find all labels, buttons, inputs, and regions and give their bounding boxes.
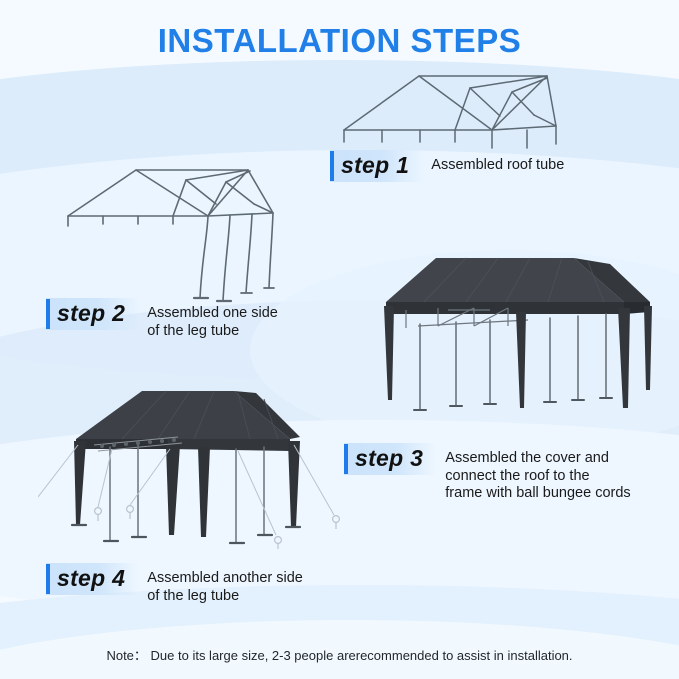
step-1-description: Assembled roof tube	[423, 150, 564, 175]
step-row-2: step 2 Assembled one side of the leg tub…	[46, 298, 278, 340]
step-4-figure-completed-canopy	[38, 385, 378, 553]
footer-note: Note： Due to its large size, 2-3 people …	[0, 645, 679, 664]
step-row-1: step 1 Assembled roof tube	[330, 150, 564, 182]
step-4-tag: step 4	[46, 563, 139, 595]
step-2-tag: step 2	[46, 298, 139, 330]
step-2-description: Assembled one side of the leg tube	[139, 298, 278, 340]
step-4-description: Assembled another side of the leg tube	[139, 563, 303, 605]
step-3-tag-label: step 3	[355, 445, 423, 471]
step-2-figure-one-side-leg-frame	[58, 158, 326, 306]
step-3-tag: step 3	[344, 443, 437, 475]
step-3-description: Assembled the cover and connect the roof…	[437, 443, 630, 503]
page-title: INSTALLATION STEPS	[0, 22, 679, 60]
step-3-figure-canopy-with-cover	[378, 250, 656, 422]
step-row-4: step 4 Assembled another side of the leg…	[46, 563, 303, 605]
step-4-tag-label: step 4	[57, 565, 125, 591]
installation-steps-infographic: INSTALLATION STEPS	[0, 0, 679, 679]
step-1-figure-roof-tube-frame	[322, 68, 562, 163]
step-row-3: step 3 Assembled the cover and connect t…	[344, 443, 631, 503]
step-1-tag: step 1	[330, 150, 423, 182]
step-1-tag-label: step 1	[341, 152, 409, 178]
step-2-tag-label: step 2	[57, 300, 125, 326]
